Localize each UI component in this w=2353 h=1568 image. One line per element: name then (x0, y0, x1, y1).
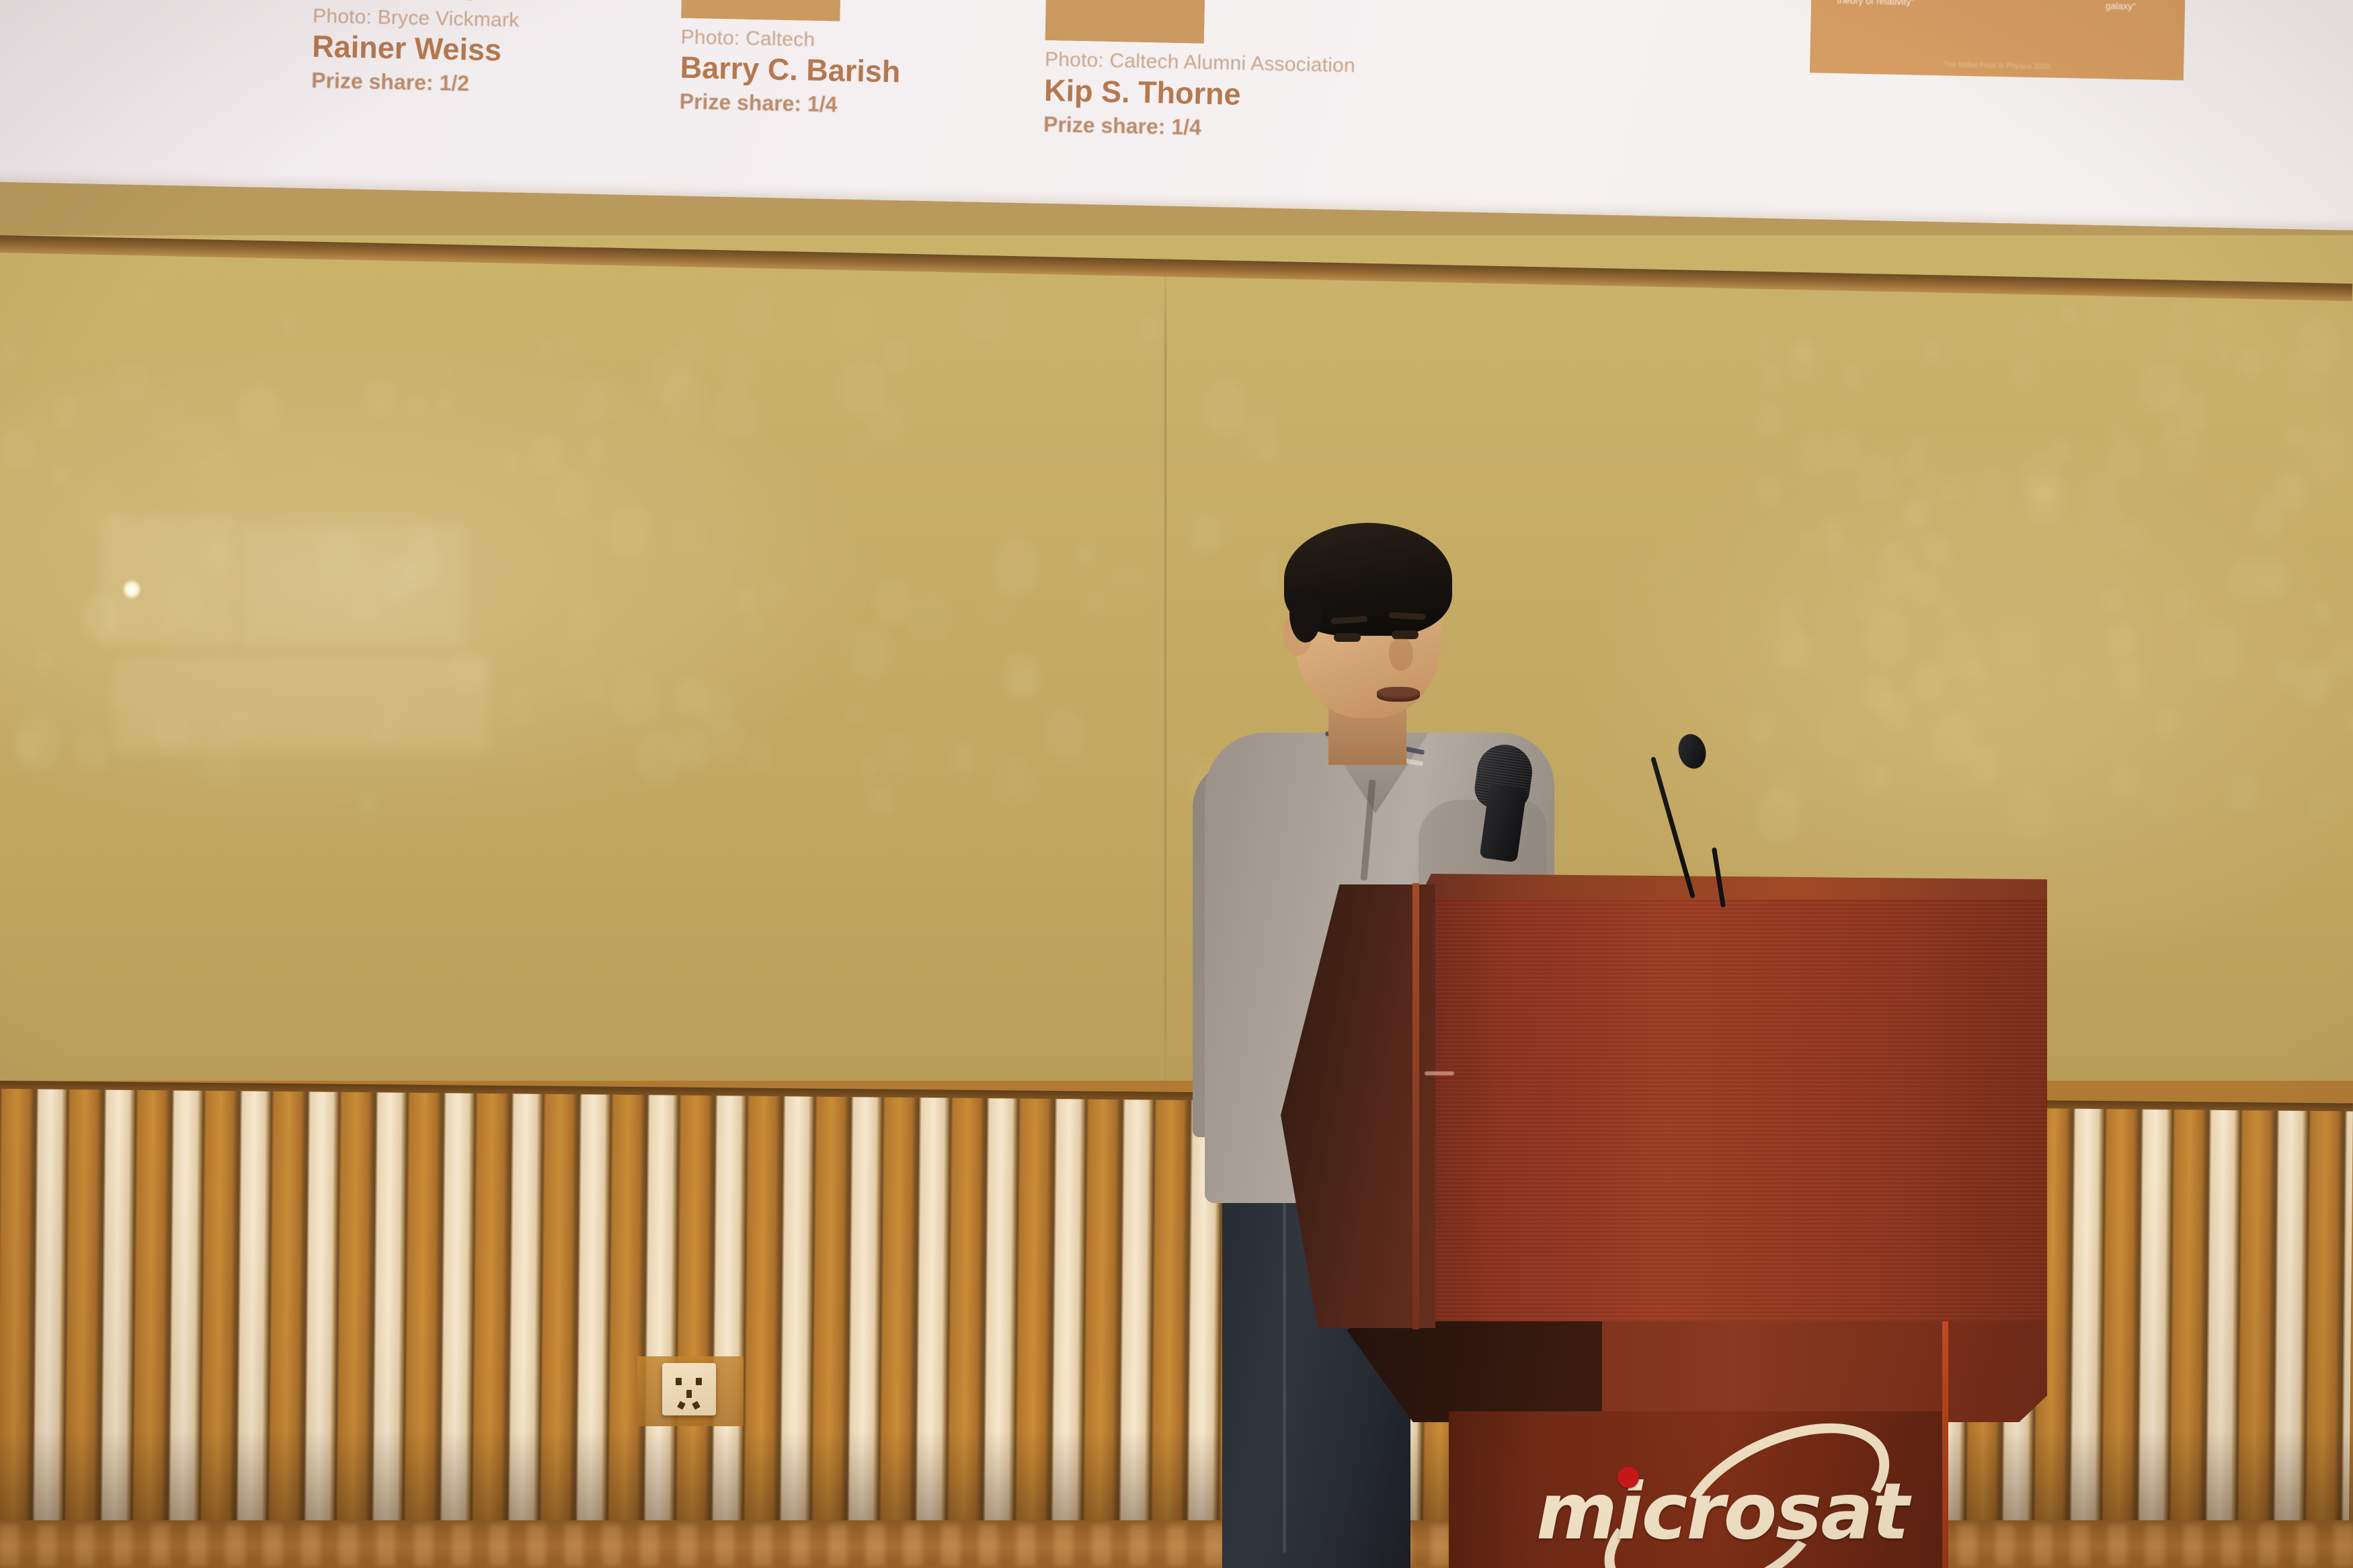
audience-head-reflection (141, 515, 173, 556)
laureate-card: Photo: Bryce Vickmark Rainer Weiss Prize… (311, 0, 598, 99)
audience-head-reflection (885, 339, 910, 369)
audience-head-reflection (2009, 786, 2053, 841)
audience-head-reflection (2085, 501, 2123, 548)
audience-head-reflection (1862, 674, 1893, 712)
audience-head-reflection (1757, 477, 1780, 505)
audience-head-reflection (2102, 588, 2123, 614)
audience-head-reflection (1077, 543, 1095, 566)
audience-head-reflection (1, 427, 34, 469)
audience-head-reflection (848, 434, 868, 458)
audience-head-reflection (314, 456, 334, 482)
audience-head-reflection (1803, 532, 1818, 551)
audience-head-reflection (880, 732, 914, 774)
audience-reflections (0, 242, 1277, 847)
nobel-2020-panel: Roger Penrose "for the discovery that bl… (1784, 0, 2207, 93)
audience-head-reflection (2227, 773, 2258, 812)
audience-head-reflection (830, 292, 874, 347)
audience-head-reflection (201, 741, 239, 789)
audience-head-reflection (538, 337, 553, 356)
audience-head-reflection (1821, 710, 1856, 755)
audience-head-reflection (1970, 743, 2003, 784)
audience-head-reflection (2057, 661, 2089, 701)
audience-head-reflection (52, 394, 80, 428)
audience-head-reflection (2214, 343, 2232, 366)
audience-head-reflection (699, 688, 733, 731)
audience-head-reflection (2256, 499, 2284, 534)
power-outlet[interactable] (662, 1363, 716, 1415)
audience-head-reflection (735, 585, 759, 614)
audience-head-reflection (1756, 333, 1771, 352)
audience-head-reflection (965, 287, 1010, 344)
audience-head-reflection (502, 452, 520, 474)
outlet-hole (686, 1390, 692, 1398)
podium-left-edge (1412, 883, 1419, 1329)
audience-head-reflection (102, 676, 130, 712)
audience-head-reflection (2341, 517, 2353, 536)
audience-head-reflection (1830, 432, 1861, 470)
audience-head-reflection (2053, 440, 2069, 460)
audience-head-reflection (1749, 712, 1775, 745)
laureate-name: Kip S. Thorne (1044, 73, 1361, 114)
podium-column: microsat (1449, 1411, 1946, 1568)
audience-head-reflection (1044, 709, 1086, 761)
audience-head-reflection (586, 436, 606, 462)
audience-head-reflection (158, 718, 193, 762)
audience-head-reflection (1845, 364, 1863, 386)
audience-head-reflection (871, 786, 893, 814)
audience-head-reflection (17, 731, 40, 760)
audience-head-reflection (161, 578, 200, 628)
audience-head-reflection (504, 684, 534, 722)
audience-head-reflection (2303, 426, 2349, 483)
audience-head-reflection (2154, 707, 2178, 737)
audience-head-reflection (2112, 661, 2143, 700)
audience-head-reflection (1997, 613, 2040, 667)
podium-desk-top (1419, 874, 2047, 899)
audience-head-reflection (2166, 323, 2194, 357)
audience-head-reflection (614, 669, 659, 725)
audience-head-reflection (2286, 427, 2305, 450)
laureate-card: Photo: Caltech Barry C. Barish Prize sha… (679, 0, 980, 120)
photograph-scene: Photo: Bryce Vickmark Rainer Weiss Prize… (0, 0, 2353, 1568)
outlet-hole (696, 1378, 702, 1385)
audience-head-reflection (407, 395, 426, 418)
audience-head-reflection (364, 377, 396, 417)
audience-head-reflection (1, 343, 17, 364)
audience-head-reflection (1776, 627, 1811, 671)
audience-head-reflection (223, 705, 251, 741)
audience-head-reflection (839, 358, 885, 415)
outlet-hole (676, 1378, 682, 1385)
audience-reflections (1748, 242, 2353, 847)
audience-head-reflection (359, 791, 377, 814)
audience-head-reflection (280, 315, 297, 337)
audience-head-reflection (2111, 764, 2138, 798)
podium: microsat (1281, 874, 2047, 1568)
audience-head-reflection (2294, 664, 2327, 705)
audience-head-reflection (1106, 563, 1150, 617)
audience-head-reflection (238, 384, 278, 435)
nobel-laureate-citation: "for the discovery of a supermassive com… (2063, 0, 2179, 13)
logo-dot-icon (1618, 1467, 1639, 1488)
audience-head-reflection (586, 380, 620, 421)
audience-head-reflection (1858, 758, 1889, 797)
audience-head-reflection (739, 289, 777, 337)
audience-head-reflection (352, 595, 378, 627)
audience-head-reflection (2061, 303, 2079, 326)
audience-head-reflection (1927, 341, 1942, 361)
microsat-logo: microsat (1536, 1437, 1886, 1565)
laureate-name: Rainer Weiss (312, 29, 595, 70)
audience-head-reflection (994, 755, 1033, 804)
audience-head-reflection (145, 388, 188, 441)
speaker-eye (1392, 630, 1419, 639)
audience-head-reflection (1912, 661, 1945, 703)
audience-head-reflection (136, 284, 154, 306)
audience-head-reflection (374, 713, 397, 741)
laureate-prize-share: Prize share: 1/4 (1043, 112, 1360, 143)
audience-head-reflection (2035, 485, 2055, 511)
audience-head-reflection (907, 587, 952, 644)
outlet-hole (692, 1401, 701, 1409)
podium-slot (1425, 1071, 1454, 1075)
projection-screen: Photo: Bryce Vickmark Rainer Weiss Prize… (0, 0, 2353, 231)
audience-head-reflection (202, 535, 233, 575)
audience-head-reflection (1973, 468, 2012, 518)
audience-head-reflection (1760, 365, 1781, 390)
audience-head-reflection (1260, 442, 1277, 463)
laureate-prize-share: Prize share: 1/2 (311, 68, 594, 99)
audience-head-reflection (54, 466, 70, 486)
laureate-card: Photo: Caltech Alumni Association Kip S.… (1043, 0, 1364, 143)
audience-head-reflection (2287, 346, 2327, 396)
nobel-citation-box: Roger Penrose "for the discovery that bl… (1810, 0, 2186, 81)
audience-head-reflection (2196, 624, 2240, 678)
audience-head-reflection (552, 470, 590, 518)
audience-head-reflection (747, 614, 764, 636)
audience-head-reflection (111, 509, 129, 531)
audience-head-reflection (1944, 480, 1964, 506)
audience-head-reflection (2224, 479, 2241, 500)
audience-head-reflection (637, 731, 680, 784)
audience-head-reflection (2312, 601, 2331, 624)
audience-head-reflection (2347, 712, 2353, 733)
audience-head-reflection (875, 579, 910, 623)
audience-head-reflection (2108, 622, 2136, 657)
audience-head-reflection (2141, 361, 2182, 412)
audience-head-reflection (661, 372, 705, 427)
audience-head-reflection (582, 678, 603, 705)
audience-head-reflection (1932, 712, 1975, 766)
audience-head-reflection (2165, 587, 2192, 621)
audience-head-reflection (2170, 298, 2188, 319)
laureate-photo (681, 0, 843, 21)
audience-head-reflection (1274, 389, 1277, 411)
outlet-hole (677, 1401, 686, 1409)
audience-head-reflection (530, 435, 563, 476)
laureate-photo (1045, 0, 1207, 44)
screen-surface: Photo: Bryce Vickmark Rainer Weiss Prize… (0, 0, 2353, 231)
podium-desk-front (1419, 891, 2047, 1321)
audience-head-reflection (2332, 638, 2353, 673)
audience-head-reflection (1858, 455, 1897, 503)
audience-head-reflection (845, 699, 864, 723)
audience-head-reflection (1875, 542, 1918, 596)
audience-head-reflection (861, 754, 877, 776)
audience-head-reflection (35, 649, 54, 673)
audience-head-reflection (692, 544, 733, 594)
audience-head-reflection (437, 390, 453, 410)
audience-head-reflection (853, 626, 893, 676)
audience-head-reflection (2309, 788, 2338, 823)
audience-head-reflection (196, 454, 239, 507)
audience-head-reflection (2239, 348, 2260, 376)
audience-head-reflection (764, 579, 784, 604)
podium-edge-highlight (1942, 1317, 1948, 1568)
audience-head-reflection (75, 730, 108, 772)
audience-head-reflection (1758, 405, 1782, 435)
audience-head-reflection (676, 727, 711, 771)
speaker-mouth (1377, 687, 1420, 702)
audience-head-reflection (746, 736, 773, 770)
audience-head-reflection (2053, 748, 2071, 770)
audience-head-reflection (2012, 358, 2036, 386)
audience-head-reflection (1940, 629, 1978, 677)
laureate-name: Barry C. Barish (680, 50, 976, 91)
audience-head-reflection (1910, 436, 1929, 460)
audience-head-reflection (571, 597, 608, 643)
audience-head-reflection (2089, 472, 2115, 504)
audience-head-reflection (1821, 517, 1843, 545)
audience-head-reflection (1799, 433, 1833, 475)
audience-head-reflection (83, 592, 118, 635)
audience-head-reflection (1921, 532, 1947, 564)
audience-head-reflection (673, 331, 705, 372)
audience-head-reflection (2161, 425, 2200, 474)
audience-head-reflection (1140, 317, 1160, 343)
audience-head-reflection (2213, 306, 2236, 335)
audience-head-reflection (980, 581, 1013, 623)
audience-head-reflection (1941, 609, 1956, 628)
speaker-hair (1284, 523, 1452, 636)
nobel-laureate-citation: "for the discovery that black hole forma… (1818, 0, 1934, 8)
audience-head-reflection (733, 403, 760, 437)
audience-head-reflection (951, 741, 976, 773)
audience-head-reflection (1086, 591, 1105, 614)
audience-head-reflection (1205, 381, 1246, 434)
logo-wordmark: microsat (1536, 1467, 1886, 1557)
audience-head-reflection (1002, 653, 1041, 700)
laureate-photo-credit: Photo: Bryce Vickmark (313, 5, 596, 34)
audience-head-reflection (2088, 296, 2114, 329)
speaker-eye (1334, 633, 1361, 642)
speaker-nose (1389, 638, 1413, 671)
audience-head-reflection (719, 349, 754, 393)
audience-head-reflection (318, 528, 362, 582)
audience-head-reflection (2110, 438, 2143, 479)
audience-head-reflection (112, 360, 150, 407)
audience-head-reflection (2230, 559, 2264, 602)
audience-head-reflection (560, 336, 576, 356)
audience-head-reflection (608, 504, 650, 557)
audience-head-reflection (433, 359, 449, 379)
audience-head-reflection (1771, 770, 1804, 811)
laureate-prize-share: Prize share: 1/4 (679, 89, 975, 120)
audience-head-reflection (2018, 313, 2037, 337)
audience-head-reflection (927, 662, 945, 684)
audience-head-reflection (451, 649, 485, 690)
audience-head-reflection (405, 542, 440, 587)
audience-head-reflection (1787, 341, 1817, 379)
audience-head-reflection (2151, 792, 2175, 822)
